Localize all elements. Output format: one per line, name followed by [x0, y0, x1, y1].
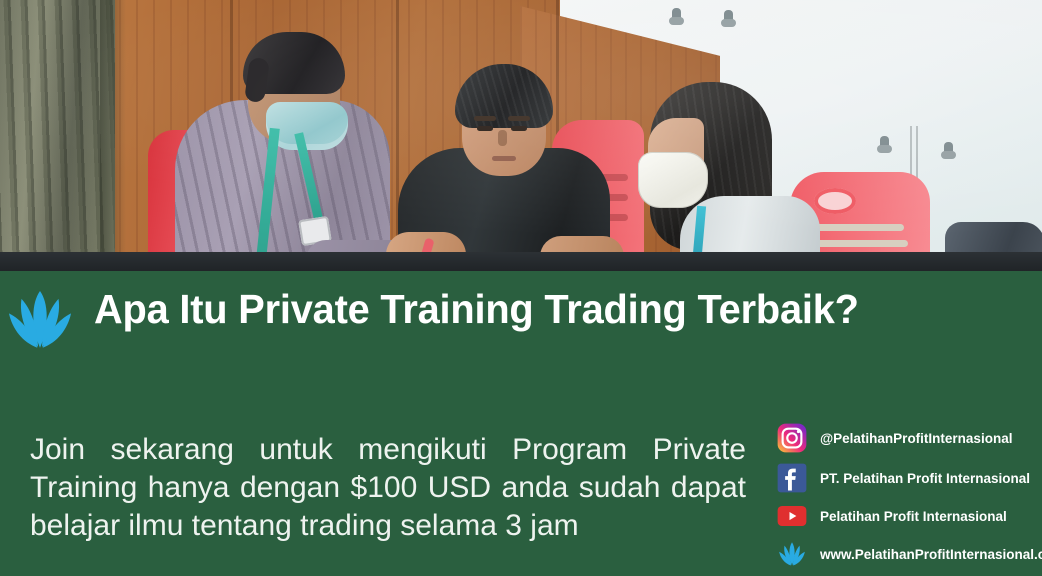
- website-lotus-icon: [776, 538, 808, 570]
- instagram-icon: [776, 422, 808, 454]
- facebook-icon: [776, 462, 808, 494]
- training-session-photo: [0, 0, 1042, 272]
- promo-banner: Apa Itu Private Training Trading Terbaik…: [0, 0, 1042, 576]
- body-line-1: Join sekarang untuk mengikuti Program Pr…: [30, 431, 746, 469]
- social-links-list: @PelatihanProfitInternasional PT. Pelati…: [776, 419, 1042, 575]
- lotus-logo-icon: [7, 288, 73, 352]
- social-label-instagram: @PelatihanProfitInternasional: [820, 431, 1012, 446]
- body-line-3: belajar ilmu tentang trading selama 3 ja…: [30, 507, 746, 545]
- social-label-youtube: Pelatihan Profit Internasional: [820, 509, 1007, 524]
- page-title: Apa Itu Private Training Trading Terbaik…: [94, 286, 859, 333]
- body-line-2: Training hanya dengan $100 USD anda suda…: [30, 469, 746, 507]
- social-item-website[interactable]: www.PelatihanProfitInternasional.com: [776, 535, 1042, 573]
- body-copy: Join sekarang untuk mengikuti Program Pr…: [30, 431, 746, 544]
- social-item-facebook[interactable]: PT. Pelatihan Profit Internasional: [776, 459, 1042, 497]
- social-item-youtube[interactable]: Pelatihan Profit Internasional: [776, 499, 1042, 533]
- photo-highlight: [0, 0, 1042, 272]
- youtube-icon: [776, 500, 808, 532]
- green-content-panel: Apa Itu Private Training Trading Terbaik…: [0, 271, 1042, 576]
- social-label-website: www.PelatihanProfitInternasional.com: [820, 547, 1042, 562]
- social-label-facebook: PT. Pelatihan Profit Internasional: [820, 471, 1030, 486]
- social-item-instagram[interactable]: @PelatihanProfitInternasional: [776, 419, 1042, 457]
